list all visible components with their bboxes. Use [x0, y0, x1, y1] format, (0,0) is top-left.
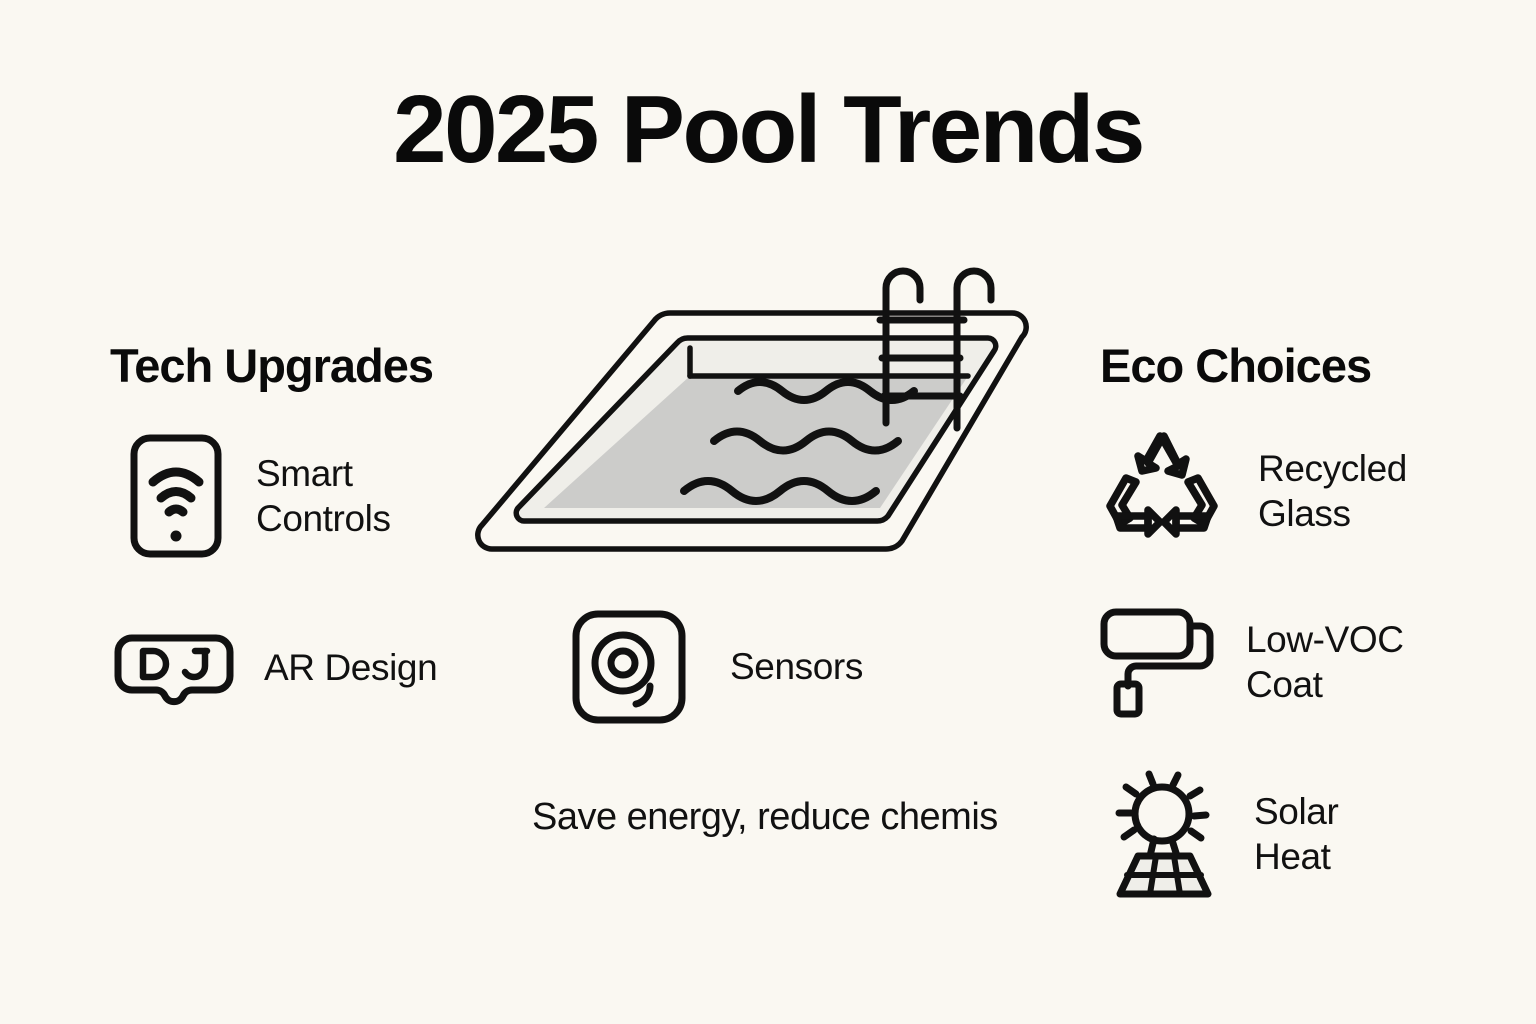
- feature-label-solar-heat: Solar Heat: [1254, 789, 1338, 879]
- swimming-pool-illustration: [452, 258, 1052, 578]
- recycle-icon: [1098, 428, 1226, 554]
- feature-recycled-glass[interactable]: Recycled Glass: [1098, 428, 1407, 554]
- feature-solar-heat[interactable]: Solar Heat: [1098, 768, 1338, 900]
- ar-goggles-icon: [112, 620, 236, 716]
- feature-ar-design[interactable]: AR Design: [112, 620, 437, 716]
- feature-smart-controls[interactable]: Smart Controls: [128, 432, 391, 560]
- feature-label-smart-controls: Smart Controls: [256, 451, 391, 541]
- smart-phone-wifi-icon: [128, 432, 224, 560]
- page-title: 2025 Pool Trends: [0, 82, 1536, 178]
- feature-low-voc-coat[interactable]: Low-VOC Coat: [1098, 604, 1404, 720]
- feature-label-recycled-glass: Recycled Glass: [1258, 446, 1407, 536]
- feature-label-ar-design: AR Design: [264, 645, 437, 690]
- feature-label-low-voc-coat: Low-VOC Coat: [1246, 617, 1404, 707]
- sensor-lens-icon: [570, 608, 688, 726]
- feature-sensors[interactable]: Sensors: [570, 608, 863, 726]
- tagline: Save energy, reduce chemis: [532, 796, 998, 839]
- column-heading-tech-upgrades: Tech Upgrades: [110, 338, 433, 393]
- solar-panel-icon: [1098, 768, 1226, 900]
- paint-roller-icon: [1098, 604, 1218, 720]
- feature-label-sensors: Sensors: [730, 644, 863, 689]
- column-heading-eco-choices: Eco Choices: [1100, 338, 1371, 393]
- infographic-canvas: 2025 Pool Trends Tech Upgrades Eco Choic…: [0, 0, 1536, 1024]
